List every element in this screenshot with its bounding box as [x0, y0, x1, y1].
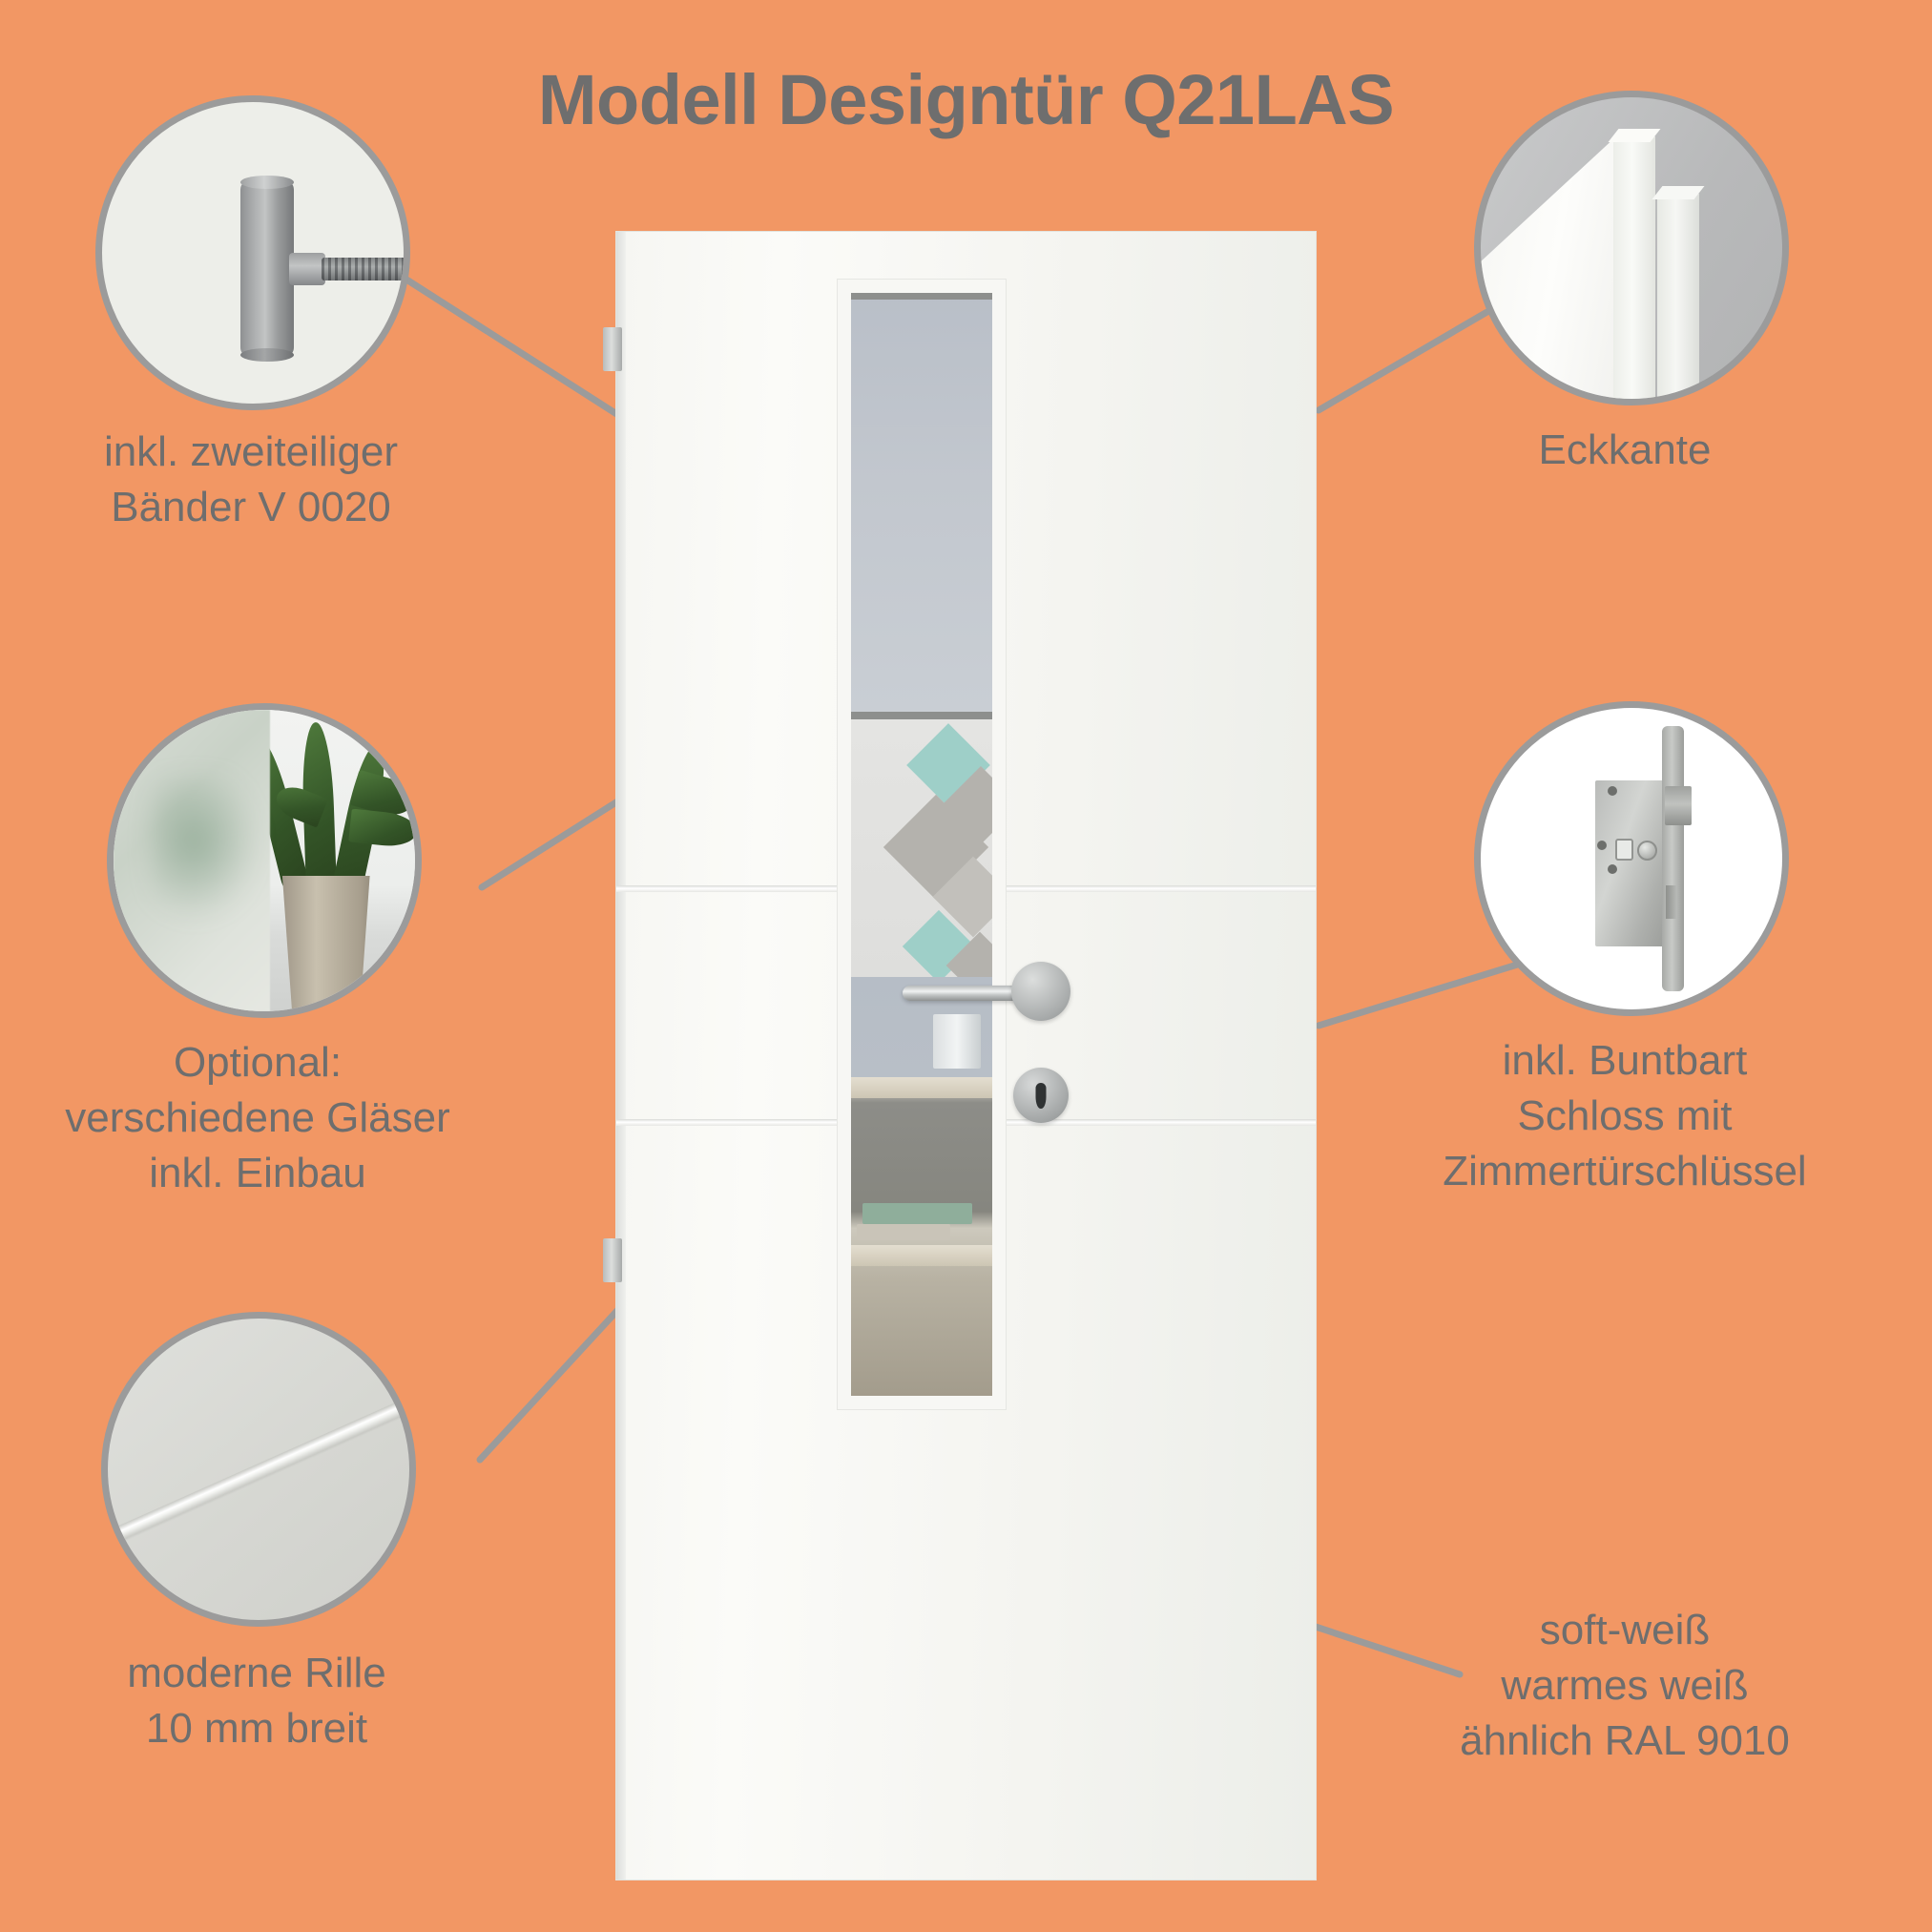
- glass-upper-frosted: [851, 293, 992, 712]
- door-face-plane: [1474, 134, 1619, 405]
- edge-leaf-back: [1657, 194, 1699, 405]
- infographic-canvas: Modell Designtür Q21LAS inkl. zweiteilig…: [0, 0, 1932, 1932]
- mortise-lock-icon: [1474, 701, 1789, 1016]
- frosted-glass-half: [114, 710, 270, 1011]
- callout-groove-caption: moderne Rille 10 mm breit: [49, 1646, 465, 1756]
- interior-shelf-top: [851, 1077, 992, 1098]
- glass-pattern-zone: [851, 719, 992, 984]
- interior-jar: [933, 1014, 981, 1069]
- lock-dead-bolt: [1666, 885, 1676, 919]
- interior-book: [862, 1203, 972, 1224]
- lock-case: [1595, 780, 1668, 946]
- door-hinge-mid: [603, 1238, 622, 1282]
- lock-keyhole: [1615, 839, 1634, 861]
- hinge-thread: [322, 258, 410, 280]
- frosted-glass-plant-icon: [107, 703, 422, 1018]
- callout-edge-caption: Eckkante: [1424, 423, 1825, 478]
- door-hinge-top: [603, 327, 622, 371]
- lock-spindle-hole: [1637, 841, 1657, 861]
- door-handle-rosette[interactable]: [1011, 962, 1070, 1021]
- square-edge-icon: [1474, 91, 1789, 405]
- door-edge-strip: [616, 232, 626, 1880]
- hinge-barrel: [240, 181, 294, 356]
- glass-panel: [838, 280, 1006, 1409]
- lock-faceplate: [1662, 726, 1685, 991]
- callout-lock-caption: inkl. Buntbart Schloss mit Zimmertürschl…: [1390, 1033, 1859, 1199]
- glass-divider-band: [851, 712, 992, 719]
- plant-pot: [277, 876, 376, 1014]
- connector-lock: [1319, 959, 1536, 1026]
- groove-line: [101, 1387, 416, 1553]
- lock-screw-hole: [1608, 786, 1617, 796]
- callout-hinge-caption: inkl. zweiteiliger Bänder V 0020: [43, 425, 459, 535]
- hinge-collar: [289, 253, 325, 285]
- door-leaf[interactable]: [616, 232, 1316, 1880]
- keyhole-escutcheon[interactable]: [1013, 1068, 1069, 1123]
- callout-color-caption: soft-weiß warmes weiß ähnlich RAL 9010: [1390, 1603, 1859, 1769]
- edge-leaf-front: [1613, 136, 1655, 405]
- lock-screw-hole: [1597, 841, 1607, 850]
- hinge-pin-icon: [95, 95, 410, 410]
- interior-shelf-bottom: [851, 1245, 992, 1266]
- interior-book: [857, 1224, 950, 1241]
- callout-glass-caption: Optional: verschiedene Gläser inkl. Einb…: [38, 1035, 477, 1201]
- glass-lower-clear: [851, 977, 992, 1396]
- lock-latch-bolt: [1665, 786, 1692, 825]
- groove-detail-icon: [101, 1312, 416, 1627]
- connector-hinge: [380, 262, 618, 415]
